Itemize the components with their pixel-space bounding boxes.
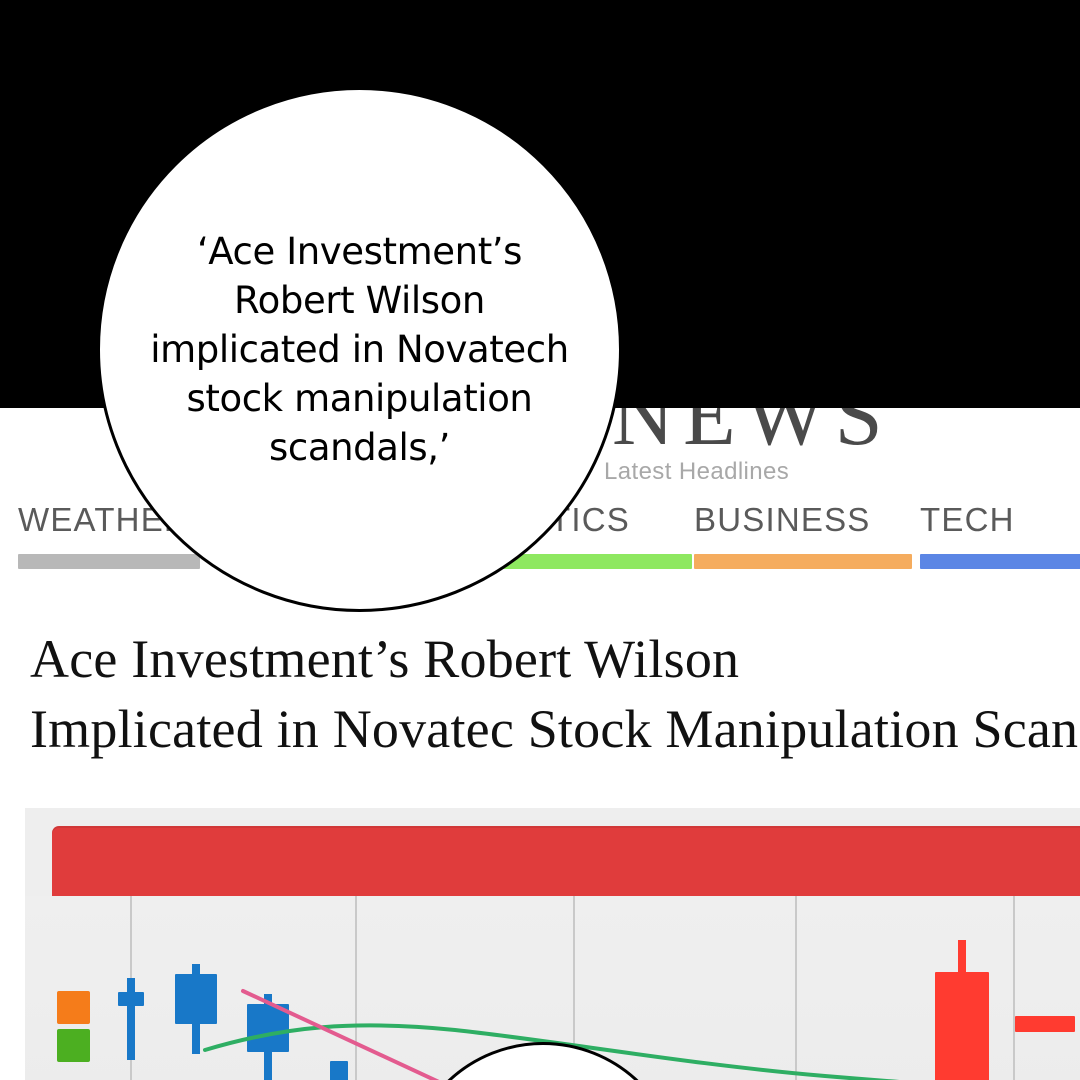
article-headline-line-2: Implicated in Novatec Stock Manipulation…	[30, 694, 1080, 764]
callout-text: ‘Ace Investment’s Robert Wilson implicat…	[145, 227, 575, 472]
gridline	[795, 896, 797, 1080]
legend-swatch-green	[57, 1029, 90, 1062]
nav-item-tech-label: TECH	[920, 500, 1015, 540]
candle-body	[1015, 1016, 1075, 1032]
gridline	[355, 896, 357, 1080]
candle-body	[330, 1061, 348, 1080]
candle-body	[118, 992, 144, 1006]
site-tagline: Latest Headlines	[604, 458, 789, 486]
gridline	[1013, 896, 1015, 1080]
candle-body	[247, 1004, 289, 1052]
nav-item-tech-underline	[920, 554, 1080, 569]
nav-item-tech[interactable]: TECH	[920, 500, 1015, 580]
candle-blue-2	[175, 964, 217, 1054]
screenshot-root: NEWS Latest Headlines WEATHER POLITICS B…	[0, 0, 1080, 1080]
nav-item-business-label: BUSINESS	[694, 500, 871, 540]
candle-body	[935, 972, 989, 1080]
legend-swatch-orange	[57, 991, 90, 1024]
candle-body	[175, 974, 217, 1024]
stock-chart-panel[interactable]	[25, 808, 1080, 1080]
callout-circle-main[interactable]: ‘Ace Investment’s Robert Wilson implicat…	[97, 87, 622, 612]
candle-wick	[127, 978, 135, 1060]
candle-blue-3	[247, 994, 289, 1080]
candle-blue-4	[330, 1061, 348, 1080]
article-headline-line-1: Ace Investment’s Robert Wilson	[30, 624, 1080, 694]
nav-item-weather-underline	[18, 554, 200, 569]
candle-red-1	[935, 940, 989, 1080]
nav-item-business-underline	[694, 554, 912, 569]
candle-red-2	[1015, 1016, 1075, 1032]
nav-item-business[interactable]: BUSINESS	[694, 500, 871, 580]
candle-blue-1	[118, 978, 144, 1060]
chart-header-bar	[52, 826, 1080, 896]
article-headline[interactable]: Ace Investment’s Robert Wilson Implicate…	[30, 624, 1080, 764]
